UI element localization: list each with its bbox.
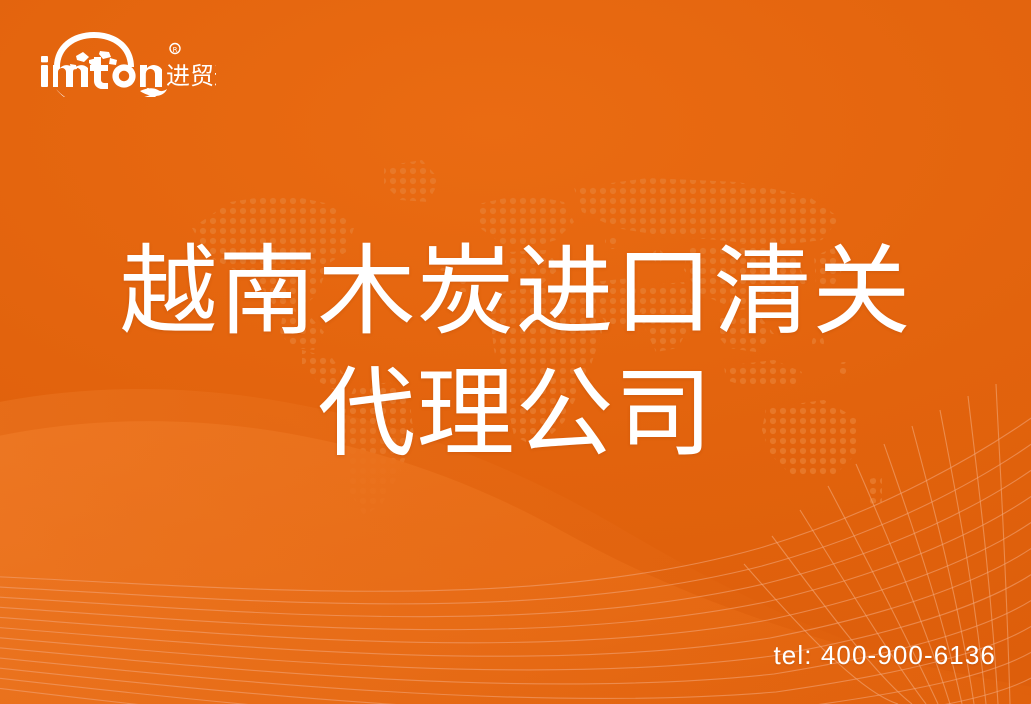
svg-text:R: R xyxy=(173,46,178,54)
contact-telephone[interactable]: tel: 400-900-6136 xyxy=(773,640,996,671)
dragon-swoosh-icon xyxy=(56,88,167,97)
page-title: 越南木炭进口清关 代理公司 xyxy=(0,231,1031,475)
poster-banner: 进贸通 R 越南木炭进口清关 代理公司 tel: 400-900-6136 xyxy=(0,0,1031,704)
logo-chinese-name: 进贸通 xyxy=(166,62,216,90)
registered-mark-icon: R xyxy=(170,44,180,55)
page-title-line-1: 越南木炭进口清关 xyxy=(0,231,1031,353)
imton-logo[interactable]: 进贸通 R xyxy=(36,27,216,97)
page-title-line-2: 代理公司 xyxy=(0,353,1031,475)
